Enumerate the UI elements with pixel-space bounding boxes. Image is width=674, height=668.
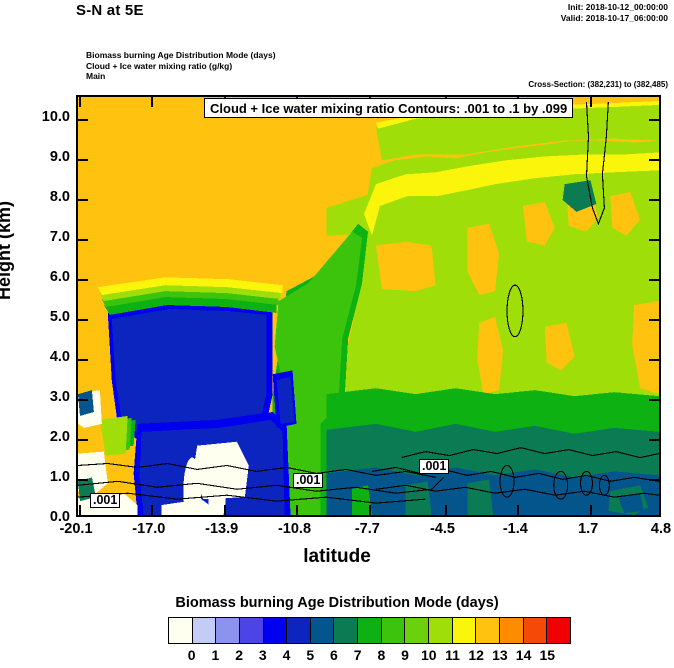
y-axis-tick [78, 159, 88, 161]
y-axis-tick-label: 2.0 [10, 429, 70, 445]
y-axis-tick [649, 319, 659, 321]
contour-title-box: Cloud + Ice water mixing ratio Contours:… [204, 98, 573, 118]
y-axis-tick-label: 5.0 [10, 309, 70, 325]
y-axis-tick [649, 479, 659, 481]
x-axis-tick-label: 4.8 [651, 521, 671, 537]
valid-time: Valid: 2018-10-17_06:00:00 [561, 13, 668, 24]
y-axis-tick [78, 439, 88, 441]
x-axis-tick [590, 505, 592, 515]
colorbar[interactable] [168, 617, 571, 644]
run-time-block: Init: 2018-10-12_00:00:00 Valid: 2018-10… [561, 2, 668, 24]
colorbar-tick-label: 8 [377, 647, 385, 663]
x-axis-tick [517, 505, 519, 515]
x-axis-tick [660, 505, 661, 515]
colorbar-swatch[interactable] [405, 618, 429, 643]
colorbar-tick-label: 10 [421, 647, 437, 663]
colorbar-swatch[interactable] [240, 618, 264, 643]
init-time: Init: 2018-10-12_00:00:00 [561, 2, 668, 13]
x-axis-tick [79, 97, 81, 107]
y-axis-tick [78, 479, 88, 481]
y-axis-title: Height (km) [0, 201, 15, 300]
colorbar-tick-labels: 0123456789101112131415 [168, 647, 571, 665]
colorbar-swatch[interactable] [500, 618, 524, 643]
y-axis-tick [78, 239, 88, 241]
variable-line-3: Main [86, 71, 276, 82]
y-axis-tick [649, 439, 659, 441]
colorbar-swatch[interactable] [524, 618, 548, 643]
x-axis-tick-label: -10.8 [278, 521, 311, 537]
colorbar-tick-label: 9 [401, 647, 409, 663]
y-axis-tick [649, 359, 659, 361]
y-axis-tick [649, 119, 659, 121]
colorbar-tick-label: 13 [492, 647, 508, 663]
colorbar-tick-label: 3 [259, 647, 267, 663]
colorbar-tick-label: 12 [468, 647, 484, 663]
y-axis-tick-label: 10.0 [10, 109, 70, 125]
age-distribution-shaded-field [78, 97, 659, 515]
y-axis-tick [649, 159, 659, 161]
colorbar-tick-label: 15 [539, 647, 555, 663]
x-axis-tick-label: -13.9 [205, 521, 238, 537]
variable-line-2: Cloud + Ice water mixing ratio (g/kg) [86, 61, 276, 72]
y-axis-tick [78, 279, 88, 281]
x-axis-tick [369, 505, 371, 515]
colorbar-tick-label: 4 [283, 647, 291, 663]
colorbar-swatch[interactable] [287, 618, 311, 643]
colorbar-tick-label: 14 [516, 647, 532, 663]
colorbar-swatch[interactable] [358, 618, 382, 643]
y-axis-tick-label: 0.0 [10, 509, 70, 525]
y-axis-tick [78, 199, 88, 201]
x-axis-tick-label: -1.4 [503, 521, 528, 537]
colorbar-swatch[interactable] [169, 618, 193, 643]
cross-section-plot[interactable]: Cloud + Ice water mixing ratio Contours:… [76, 95, 661, 517]
y-axis-tick [78, 359, 88, 361]
x-axis-tick [590, 97, 592, 107]
colorbar-tick-label: 0 [188, 647, 196, 663]
y-axis-tick-label: 9.0 [10, 149, 70, 165]
y-axis-tick-label: 4.0 [10, 349, 70, 365]
y-axis-tick [78, 319, 88, 321]
x-axis-tick [151, 505, 153, 515]
y-axis-tick [649, 399, 659, 401]
y-axis-tick [649, 199, 659, 201]
colorbar-tick-label: 6 [330, 647, 338, 663]
colorbar-swatch[interactable] [476, 618, 500, 643]
x-axis-tick [445, 505, 447, 515]
colorbar-tick-label: 7 [354, 647, 362, 663]
colorbar-tick-label: 11 [445, 647, 460, 663]
y-axis-tick-label: 8.0 [10, 189, 70, 205]
page-title: S-N at 5E [76, 2, 144, 19]
cross-section-coordinates: Cross-Section: (382,231) to (382,485) [528, 80, 668, 89]
y-axis-tick [78, 399, 88, 401]
colorbar-title: Biomass burning Age Distribution Mode (d… [0, 595, 674, 611]
x-axis-tick [79, 505, 81, 515]
y-axis-tick-label: 6.0 [10, 269, 70, 285]
y-axis-tick-label: 3.0 [10, 389, 70, 405]
colorbar-swatch[interactable] [193, 618, 217, 643]
y-axis-tick [78, 119, 88, 121]
colorbar-swatch[interactable] [453, 618, 477, 643]
colorbar-swatch[interactable] [382, 618, 406, 643]
x-axis-tick [660, 97, 661, 107]
colorbar-swatch[interactable] [334, 618, 358, 643]
x-axis-tick-label: -17.0 [132, 521, 165, 537]
x-axis-tick-label: -20.1 [59, 521, 92, 537]
colorbar-swatch[interactable] [216, 618, 240, 643]
y-axis-tick-label: 7.0 [10, 229, 70, 245]
y-axis-tick [649, 279, 659, 281]
colorbar-tick-label: 1 [212, 647, 220, 663]
colorbar-swatch[interactable] [311, 618, 335, 643]
x-axis-tick-label: -7.7 [355, 521, 380, 537]
variable-description-block: Biomass burning Age Distribution Mode (d… [86, 50, 276, 82]
x-axis-title: latitude [0, 546, 674, 568]
x-axis-tick-label: -4.5 [430, 521, 455, 537]
x-axis-tick [296, 505, 298, 515]
y-axis-tick-label: 1.0 [10, 469, 70, 485]
colorbar-tick-label: 5 [306, 647, 314, 663]
variable-line-1: Biomass burning Age Distribution Mode (d… [86, 50, 276, 61]
x-axis-tick [151, 97, 153, 107]
x-axis-tick-label: 1.7 [578, 521, 598, 537]
y-axis-tick [649, 239, 659, 241]
colorbar-swatch[interactable] [264, 618, 288, 643]
colorbar-swatch[interactable] [547, 618, 570, 643]
colorbar-tick-label: 2 [235, 647, 243, 663]
colorbar-swatch[interactable] [429, 618, 453, 643]
x-axis-tick [224, 505, 226, 515]
